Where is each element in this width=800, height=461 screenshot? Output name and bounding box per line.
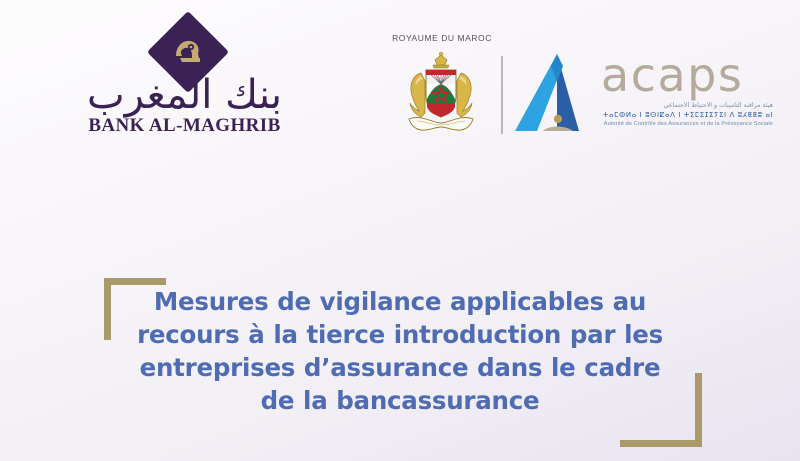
logo-band: بنك المغرب BANK AL-MAGHRIB ROYAUME DU MA…	[0, 0, 800, 175]
acaps-subtitle-tifinagh: ⵜⴰⵎⵀⵍⴰ ⵏ ⵓⵙⵏⵇⴰⴷ ⵏ ⵜⵉⵎⵉⵊⵉⵢⵉⵏ ⴷ ⵓⵃⵟⵟⵓ ⴰⵏⴰⵎ…	[603, 111, 773, 120]
bank-al-maghrib-arabic-name: بنك المغرب	[72, 72, 297, 118]
acaps-subtitle-french: Autorité de Contrôle des Assurances et d…	[603, 120, 773, 128]
slide-title: Mesures de vigilance applicables au reco…	[122, 285, 678, 417]
title-area: Mesures de vigilance applicables au reco…	[0, 262, 800, 461]
morocco-coat-of-arms-icon	[401, 51, 481, 137]
acaps-subtitle-arabic: هيئة مراقبة التأمينات و الاحتياط الاجتما…	[603, 102, 773, 111]
title-slide: بنك المغرب BANK AL-MAGHRIB ROYAUME DU MA…	[0, 0, 800, 461]
bank-al-maghrib-latin-name: BANK AL-MAGHRIB	[72, 115, 297, 137]
acaps-a-mark-icon	[513, 52, 601, 138]
logo-divider	[501, 56, 503, 134]
royaume-du-maroc-label: ROYAUME DU MAROC	[383, 33, 501, 43]
acaps-wordmark: acaps	[601, 50, 743, 100]
acaps-logo: acaps هيئة مراقبة التأمينات و الاحتياط ا…	[513, 48, 768, 146]
bank-al-maghrib-logo: بنك المغرب BANK AL-MAGHRIB	[72, 12, 297, 152]
acaps-subtitle-block: هيئة مراقبة التأمينات و الاحتياط الاجتما…	[603, 102, 773, 128]
royaume-du-maroc-block: ROYAUME DU MAROC	[383, 33, 501, 143]
